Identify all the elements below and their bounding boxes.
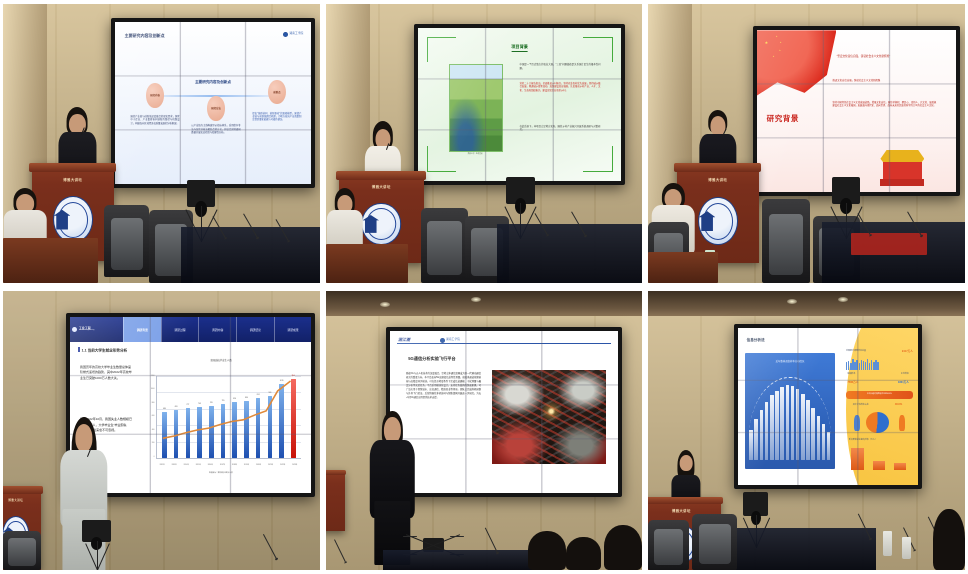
presentation-screen: 项目背景 美丽乡村 · 生态宜居 中国是一个历史悠久的农业大国，"三农"问题始终… [414,24,624,185]
section-title-text: 1.1 当前大学生就业形势分析 [82,349,128,353]
tripod-legs [82,541,111,570]
photo-collage: 主要研究内容及创新点 湖南工学院 主要研究内容及创新点 研究内容 研究方法 创新… [0,0,968,574]
presentation-screen: 主要研究内容及创新点 湖南工学院 主要研究内容及创新点 研究内容 研究方法 创新… [111,18,316,188]
podium-name-plate: 博雅大讲坛 [32,177,114,182]
frame-corner-tl [427,37,456,63]
metric-label-total: 全国累计调查样本总量 [846,350,866,353]
analysis-paragraph-1: 我国历年的高校大学毕业生数量总体呈阶梯式递增的趋势，其中2022年高校毕业生已突… [80,365,133,381]
frame-corner-tr [583,37,612,63]
intent-bar-chart [851,448,907,470]
red-table-cloth [851,233,927,255]
slide-5g-platform: 湘江潮 湖南工学院 5G通信分析实验飞行平台 随着5G与无人机技术的深度融合，空… [390,331,618,493]
left-chart-bars [749,381,830,460]
rural-landscape-image [449,64,504,152]
collage-panel-4: 工业工程 Industrial Engineering 调研背景 调研过程 调研… [0,287,323,574]
presentation-screen: 信息分析法 近年整体调查样本分布情况 [734,324,923,488]
slide-main-research: 主要研究内容及创新点 湖南工学院 主要研究内容及创新点 研究内容 研究方法 创新… [115,22,312,184]
slide-navbar: 工业工程 Industrial Engineering 调研背景 调研过程 调研… [70,317,311,342]
collage-panel-2: 项目背景 美丽乡村 · 生态宜居 中国是一个历史悠久的农业大国，"三农"问题始终… [323,0,645,287]
podium-top [648,497,723,504]
flag-star-large: ★ [765,41,769,45]
water-cup-1 [883,531,893,556]
slide-center-title: 主要研究内容及创新点 [195,80,231,85]
tripod-camera [82,520,111,570]
slide-big-title: 研究背景 [767,114,799,125]
collage-panel-6: 信息分析法 近年整体调查样本分布情况 [645,287,968,574]
photo-panel-3: ★ ★ ★ ★ ★ 研究背景 "坚定文化自信自强，铸就社会主义文化新辉煌" 推进… [648,4,965,283]
graduates-bar-chart: 全国高校毕业生人数 120010008006004002000 680 [138,359,304,475]
audience-person [933,509,965,570]
flag-star-4: ★ [773,56,775,58]
collage-panel-1: 主要研究内容及创新点 湖南工学院 主要研究内容及创新点 研究内容 研究方法 创新… [0,0,323,287]
pillar-circle-3: 创新点 [268,80,286,104]
metric-value-total: 9417万人 [902,350,913,354]
slide-paragraph: 坚持中国特色社会主义文化发展道路，增强文化自信，围绕举旗帜、聚民心、育新人、兴文… [832,102,936,109]
chart-y-ticks: 120010008006004002000 [141,376,154,460]
conference-table [497,224,642,283]
podium-top [326,470,346,476]
brand-mark-icon [72,327,77,332]
flag-star-2: ★ [780,42,782,44]
tab-4[interactable]: 调研结论 [236,317,274,342]
slide-title: 信息分析法 [747,338,765,343]
photo-panel-6: 信息分析法 近年整体调查样本分布情况 [648,291,965,570]
side-podium [326,470,345,531]
conference-table [730,528,876,570]
frame-corner-br [583,146,612,172]
analysis-paragraph-1-text: 我国历年的高校大学毕业生数量总体呈阶梯式递增的趋势，其中2022年高校毕业生已突… [80,365,132,380]
university-logo: 湖南工学院 [283,32,303,37]
infographic-panel: 全国累计调查样本总量 9417万人 城镇样本 7586万人 乡村样本 [846,350,913,472]
image-caption: 美丽乡村 · 生态宜居 [449,153,502,155]
metric-label-rural: 乡村样本 [901,373,909,376]
slide-title: 5G通信分析实验飞行平台 [408,356,455,362]
chart-title: 全国高校毕业生人数 [138,359,304,362]
metric-value-urban: 7586万人 [847,381,858,385]
pillar-circle-1: 研究内容 [146,83,164,107]
photo-panel-2: 项目背景 美丽乡村 · 生态宜居 中国是一个历史悠久的农业大国，"三农"问题始终… [326,4,642,283]
tiananmen-illustration [880,150,924,186]
audience-head-3 [604,525,642,570]
title-bullet-icon [78,347,81,352]
podium-top [29,163,116,172]
front-row-desk [648,252,718,283]
podium-name-plate: 博雅大讲坛 [677,177,759,182]
flag-star-3: ★ [779,50,781,52]
conference-table [181,227,320,283]
pillar-text-3: 提出"链群协同、创新驱动"的双轮模型，厘清产业链与创新链耦合机理，为地方政府产业… [252,113,301,123]
presenter-head [680,455,693,471]
seated-person [326,188,364,249]
ceiling-spotlight-1 [380,302,390,307]
ceiling [648,291,965,316]
metric-value-rural: 1831万人 [898,381,909,385]
brand-subtitle: Industrial Engineering [79,330,94,332]
university-emblem [53,196,93,243]
conference-chair-1 [421,208,468,283]
chart-trendline [157,376,301,493]
metric-label-urban: 城镇样本 [847,373,855,376]
conference-chair-2 [648,520,689,570]
audience-head-2 [566,537,601,570]
podium-name-plate: 博雅大讲坛 [648,508,721,513]
logo-text: 湖南工学院 [289,32,303,36]
tiananmen-base [880,179,924,185]
pillar-text-1: 围绕产业链与创新链深度融合的现实需求，探索中小企业、产业集群协同创新的路径与机制… [130,116,179,126]
front-row-desk [326,244,408,283]
gender-pie-chart [866,412,889,433]
podium-name-plate: 博雅大讲坛 [3,498,41,502]
tick-bars [846,359,913,370]
water-cup-2 [902,537,912,559]
presentation-screen: ★ ★ ★ ★ ★ 研究背景 "坚定文化自信自强，铸就社会主义文化新辉煌" 推进… [753,26,961,196]
slide-subline: 推进文化自信自强，铸就社会主义文化新辉煌 [832,79,880,82]
presenter-head [384,417,400,443]
left-chart-title: 近年整体调查样本分布情况 [745,360,835,363]
background-paragraph-1: 中国是一个历史悠久的农业大国，"三农"问题始终是关系国计民生的根本性问题。 [520,64,601,71]
podium-top [336,171,426,179]
metric-label-intent: 重点群体就业意向分布（万人） [849,439,877,442]
slide-information-analysis: 信息分析法 近年整体调查样本分布情况 [738,328,919,484]
photo-panel-1: 主要研究内容及创新点 湖南工学院 主要研究内容及创新点 研究内容 研究方法 创新… [3,4,320,283]
chart-plot-area: 680 699 727 749 765 795 820 834 874 90 [156,376,301,460]
slide-quote: "坚定文化自信自强，铸就社会主义文化新辉煌" [836,55,890,59]
conference-chair-1 [104,205,148,278]
audience-head-1 [528,531,566,570]
collage-panel-3: ★ ★ ★ ★ ★ 研究背景 "坚定文化自信自强，铸就社会主义文化新辉煌" 推进… [645,0,968,287]
sample-distribution-chart: 近年整体调查样本分布情况 [745,353,835,469]
slide-title: 项目背景 [511,44,528,52]
slide-header-rule [397,343,611,344]
person-icon-male [854,415,860,431]
tiananmen-roof [880,150,924,162]
ceiling-spotlight-2 [471,297,481,302]
ceiling [326,291,642,316]
conference-table [383,550,535,570]
background-paragraph-2: 党的二十大报告指出，全面推进乡村振兴，坚持农业农村优先发展，坚持城乡融合发展，畅… [520,83,601,93]
background-paragraph-3: 在此背景下，本项目立足地方实际，围绕乡村产业振兴开展系统调研与对策研究。 [520,126,601,133]
highlight-pill: 本次问卷有效回收率达到96.8% [846,391,913,400]
logo-mark [283,32,288,37]
tiananmen-body [883,162,922,179]
conference-chair-1 [3,531,41,570]
ceiling-spotlight-2 [838,297,848,302]
slide-project-background: 项目背景 美丽乡村 · 生态宜居 中国是一个历史悠久的农业大国，"三农"问题始终… [418,28,620,181]
flag-star-1: ★ [776,36,778,38]
chart-x-ticks: 2012年2013年2014年2015年 2016年2017年2018年2019… [156,465,301,467]
conference-chair-1 [692,514,736,570]
tab-3[interactable]: 调研内容 [198,317,236,342]
slide-research-background: ★ ★ ★ ★ ★ 研究背景 "坚定文化自信自强，铸就社会主义文化新辉煌" 推进… [757,30,957,192]
conference-chair-1 [762,199,810,283]
university-emblem [362,203,402,246]
presentation-screen: 湘江潮 湖南工学院 5G通信分析实验飞行平台 随着5G与无人机技术的深度融合，空… [386,327,622,497]
front-row-desk [3,238,98,283]
podium-top [3,486,43,494]
photo-panel-5: 湘江潮 湖南工学院 5G通信分析实验飞行平台 随着5G与无人机技术的深度融合，空… [326,291,642,570]
logo-text: 湖南工学院 [446,338,460,342]
slide-paragraph: 随着5G与无人机技术的深度融合，空地立体通信组网成为新一代移动通信研究的重要方向… [406,372,481,400]
chinese-flag: ★ ★ ★ ★ ★ [757,30,837,104]
photo-panel-4: 工业工程 Industrial Engineering 调研背景 调研过程 调研… [3,291,320,570]
metric-value-female: 48.6% [895,403,902,407]
chart-x-label: 数据来源：教育部历年统计公报 [138,472,304,474]
collage-panel-5: 湘江潮 湖南工学院 5G通信分析实验飞行平台 随着5G与无人机技术的深度融合，空… [323,287,645,574]
person-icon-female [899,415,905,431]
tab-1[interactable]: 调研背景 [123,317,161,342]
section-title: 1.1 当前大学生就业形势分析 [78,347,128,354]
slide-brand: 工业工程 Industrial Engineering [70,317,123,342]
pillar-circle-2: 研究方法 [207,96,225,120]
podium-top [674,163,761,172]
tab-5[interactable]: 调研成果 [274,317,312,342]
pillar-text-2: 以产业链为主线构建评价指标体系，采用德尔菲法与层次分析法相结合的方式，并结合实地… [191,125,240,135]
drone-photo [492,370,606,464]
university-emblem [698,197,738,245]
metric-label-female: 其中女性样本占比 [853,404,869,407]
slide-header-title: 主要研究内容及创新点 [125,33,165,39]
tab-2[interactable]: 调研过程 [161,317,199,342]
